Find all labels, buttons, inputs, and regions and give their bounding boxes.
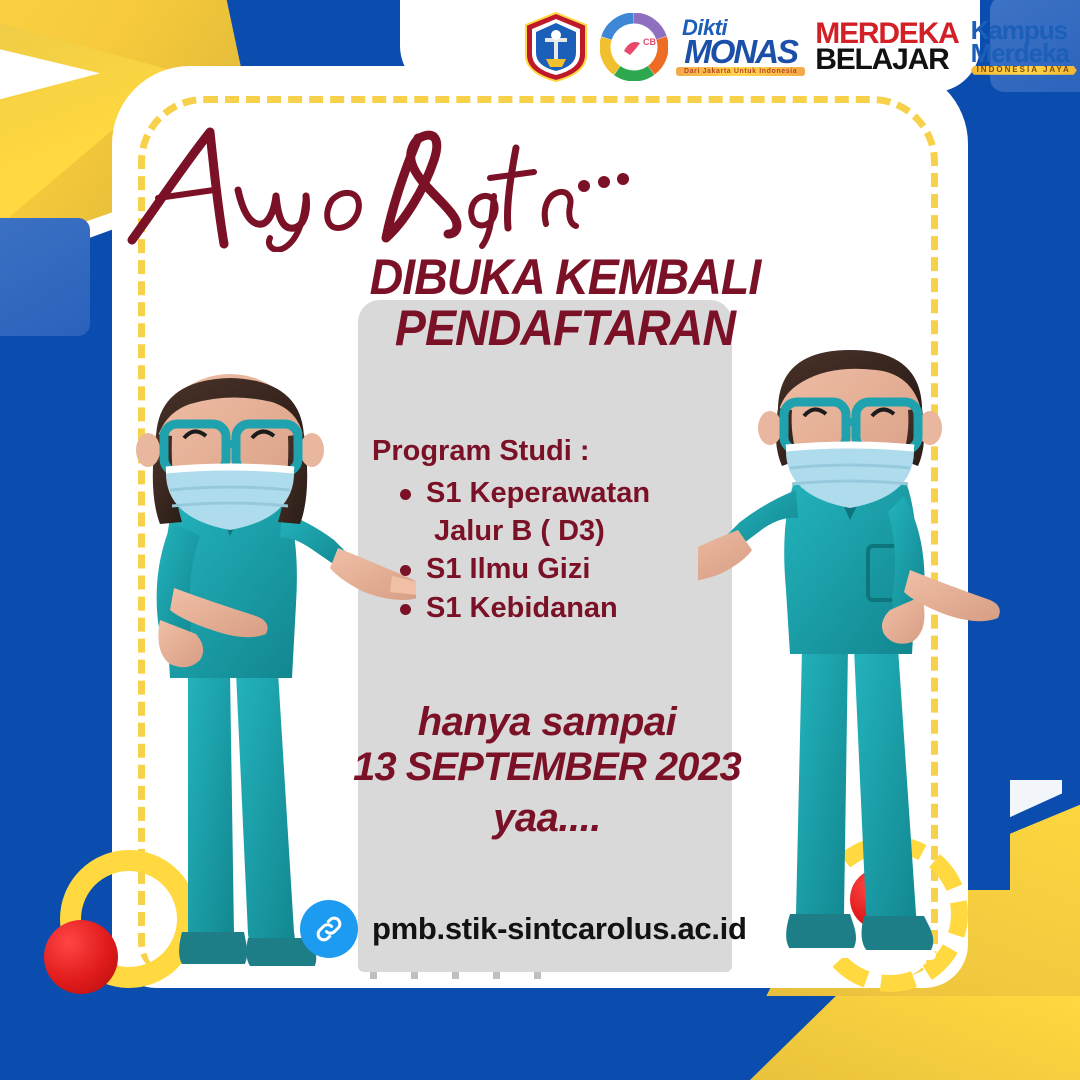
registration-link[interactable]: pmb.stik-sintcarolus.ac.id: [300, 900, 747, 958]
stik-sint-carolus-crest-icon: [520, 11, 592, 83]
partner-logo-strip: CB Dikti MONAS Dari Jakarta Untuk Indone…: [520, 8, 1077, 86]
decor-footer-yellow-shape: [750, 996, 1080, 1080]
panel-dot: [370, 972, 377, 979]
headline-line-2: PENDAFTARAN: [346, 303, 783, 354]
list-item: Jalur B ( D3): [426, 512, 782, 550]
program-studi-label: Program Studi :: [372, 436, 782, 468]
nurse-character-female: [96, 372, 416, 992]
footer-bar: [0, 996, 1080, 1080]
panel-dot: [534, 972, 541, 979]
dikti-monas-logo-icon: Dikti MONAS Dari Jakarta Untuk Indonesia: [676, 16, 805, 78]
dikti-ribbon-text: Dari Jakarta Untuk Indonesia: [676, 67, 805, 76]
page-title: DIBUKA KEMBALI PENDAFTARAN: [346, 252, 783, 354]
panel-dot-row: [370, 972, 610, 979]
cb-values-wheel-icon: CB: [600, 13, 668, 81]
deadline-date: 13 SEPTEMBER 2023: [352, 745, 742, 790]
script-headline-ayo-daftar: [118, 112, 638, 252]
panel-dot: [452, 972, 459, 979]
deadline-line-1: hanya sampai: [352, 700, 742, 745]
panel-dot: [493, 972, 500, 979]
kampus-line2: Merdeka: [971, 42, 1077, 64]
panel-dot: [411, 972, 418, 979]
merdeka-belajar-logo-icon: MERDEKA BELAJAR: [815, 21, 958, 73]
list-item: S1 Kebidanan: [426, 589, 782, 627]
link-icon: [300, 900, 358, 958]
deadline-line-3: yaa....: [352, 794, 742, 842]
decor-blue-rounded-square-left: [0, 218, 90, 336]
poster-canvas: CB Dikti MONAS Dari Jakarta Untuk Indone…: [0, 0, 1080, 1080]
list-item: S1 Ilmu Gizi: [426, 550, 782, 588]
kampus-merdeka-logo-icon: Kampus Merdeka INDONESIA JAYA: [971, 19, 1077, 75]
headline-line-1: DIBUKA KEMBALI: [346, 252, 783, 303]
registration-url-text: pmb.stik-sintcarolus.ac.id: [372, 911, 747, 947]
merdeka-line2: BELAJAR: [815, 47, 958, 73]
list-item: S1 Keperawatan: [426, 474, 782, 512]
program-studi-block: Program Studi : S1 Keperawatan Jalur B (…: [372, 436, 782, 627]
program-studi-list: S1 Keperawatan Jalur B ( D3) S1 Ilmu Giz…: [372, 474, 782, 627]
svg-text:CB: CB: [643, 37, 656, 47]
kampus-ribbon-text: INDONESIA JAYA: [971, 66, 1077, 75]
deadline-block: hanya sampai 13 SEPTEMBER 2023 yaa....: [352, 700, 742, 842]
monas-wordmark: MONAS: [684, 38, 797, 66]
